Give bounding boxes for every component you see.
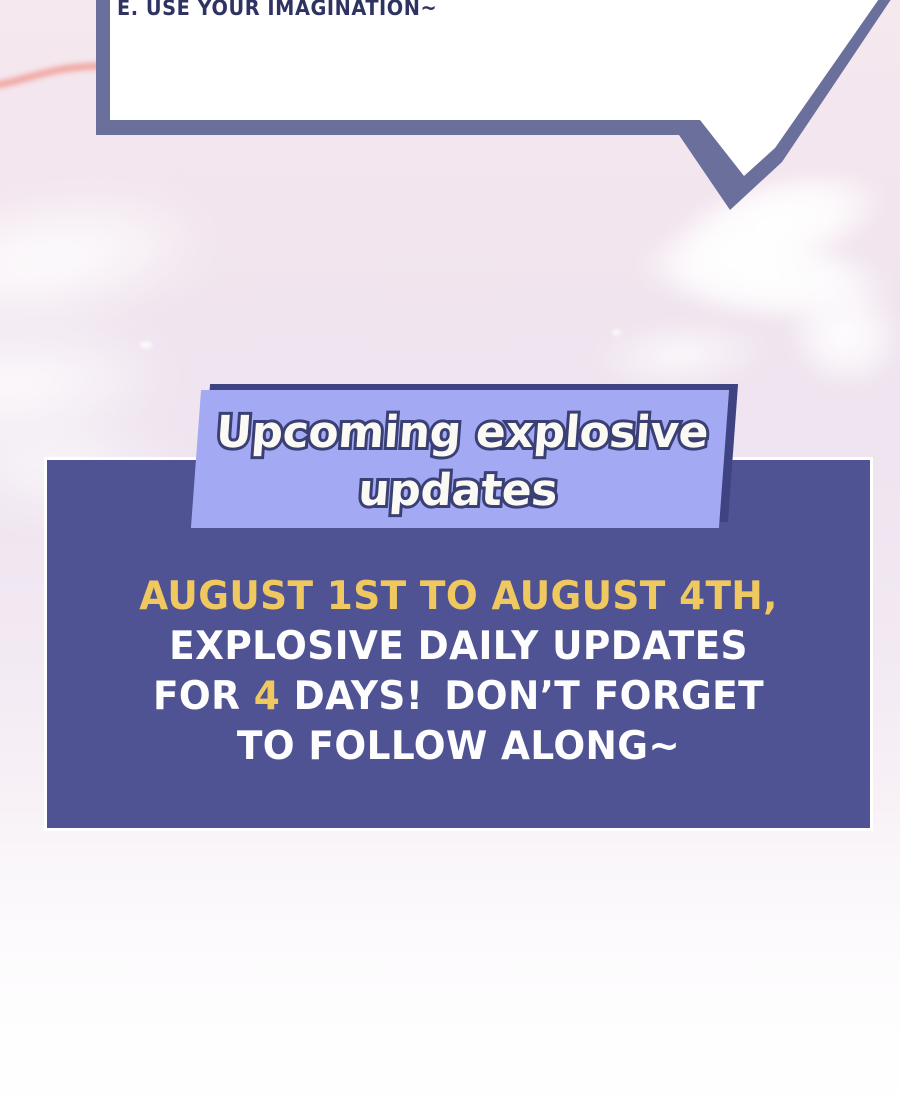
announcement-line-3-suffix: DON’T FORGET bbox=[444, 674, 764, 719]
sparkle-left bbox=[140, 342, 152, 348]
title-banner-line-1: Upcoming explosive bbox=[214, 407, 710, 458]
announcement-line-2: EXPLOSIVE DAILY UPDATES bbox=[169, 624, 748, 669]
sparkle-right bbox=[612, 330, 621, 335]
title-banner-line-2: updates bbox=[357, 465, 560, 516]
announcement-day-count: 4 bbox=[254, 674, 280, 719]
announcement-line-4: TO FOLLOW ALONG~ bbox=[237, 724, 680, 769]
bubble-text: E. USE YOUR IMAGINATION~ bbox=[117, 0, 437, 20]
title-banner: Upcoming explosive updates bbox=[196, 384, 741, 534]
comic-page: E. USE YOUR IMAGINATION~ AUGUST 1ST TO A… bbox=[0, 0, 900, 1116]
announcement-text: AUGUST 1ST TO AUGUST 4TH, EXPLOSIVE DAIL… bbox=[63, 572, 853, 772]
announcement-line-1: AUGUST 1ST TO AUGUST 4TH, bbox=[139, 574, 778, 619]
title-banner-text: Upcoming explosive updates bbox=[192, 404, 729, 520]
announcement-line-3-mid: DAYS! bbox=[280, 674, 423, 719]
announcement-line-3-prefix: FOR bbox=[153, 674, 254, 719]
